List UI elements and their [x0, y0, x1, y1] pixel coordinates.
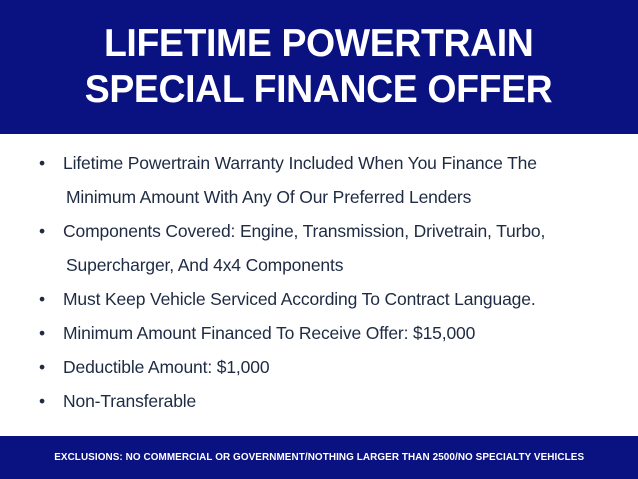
bullet-text: Lifetime Powertrain Warranty Included Wh… [63, 146, 620, 214]
bullet-text: Must Keep Vehicle Serviced According To … [63, 282, 620, 316]
promo-slide: LIFETIME POWERTRAIN SPECIAL FINANCE OFFE… [0, 0, 638, 479]
bullet-text: Minimum Amount Financed To Receive Offer… [63, 316, 620, 350]
offer-details-body: • Lifetime Powertrain Warranty Included … [0, 134, 638, 436]
exclusions-text: EXCLUSIONS: NO COMMERCIAL OR GOVERNMENT/… [54, 452, 584, 463]
list-item: • Components Covered: Engine, Transmissi… [30, 214, 620, 282]
bullet-text: Deductible Amount: $1,000 [63, 350, 620, 384]
bullet-text: Non-Transferable [63, 384, 620, 418]
bullet-text-line-1: Must Keep Vehicle Serviced According To … [63, 289, 536, 309]
list-item: • Lifetime Powertrain Warranty Included … [30, 146, 620, 214]
bullet-text-line-1: Lifetime Powertrain Warranty Included Wh… [63, 153, 537, 173]
header-banner: LIFETIME POWERTRAIN SPECIAL FINANCE OFFE… [0, 0, 638, 134]
list-item: • Minimum Amount Financed To Receive Off… [30, 316, 620, 350]
bullet-text-line-2: Minimum Amount With Any Of Our Preferred… [63, 180, 620, 214]
list-item: • Deductible Amount: $1,000 [30, 350, 620, 384]
list-item: • Non-Transferable [30, 384, 620, 418]
offer-bullet-list: • Lifetime Powertrain Warranty Included … [18, 146, 620, 418]
slide-title-line-2: SPECIAL FINANCE OFFER [85, 67, 553, 113]
bullet-text-line-2: Supercharger, And 4x4 Components [63, 248, 620, 282]
bullet-marker-icon: • [39, 350, 53, 384]
slide-title-line-1: LIFETIME POWERTRAIN [104, 21, 533, 67]
bullet-marker-icon: • [39, 146, 53, 180]
bullet-marker-icon: • [39, 316, 53, 350]
bullet-text-line-1: Minimum Amount Financed To Receive Offer… [63, 323, 475, 343]
exclusions-banner: EXCLUSIONS: NO COMMERCIAL OR GOVERNMENT/… [0, 436, 638, 479]
bullet-text-line-1: Components Covered: Engine, Transmission… [63, 221, 545, 241]
bullet-marker-icon: • [39, 282, 53, 316]
bullet-text: Components Covered: Engine, Transmission… [63, 214, 620, 282]
bullet-text-line-1: Non-Transferable [63, 391, 196, 411]
bullet-marker-icon: • [39, 384, 53, 418]
list-item: • Must Keep Vehicle Serviced According T… [30, 282, 620, 316]
bullet-marker-icon: • [39, 214, 53, 248]
bullet-text-line-1: Deductible Amount: $1,000 [63, 357, 269, 377]
